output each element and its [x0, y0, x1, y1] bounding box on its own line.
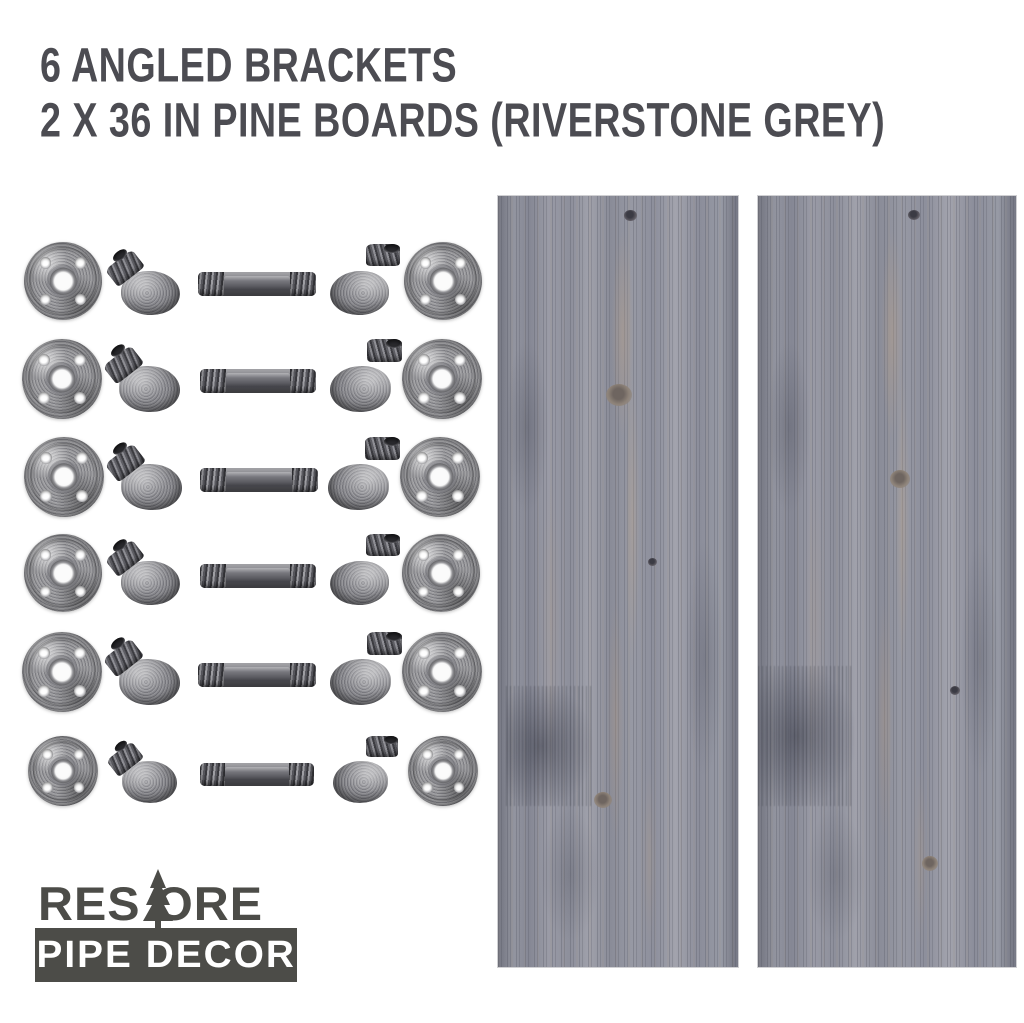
logo-wordmark-restore: RES ORE [35, 878, 297, 934]
flange-bolt-hole [40, 490, 52, 502]
flange-right [402, 534, 480, 612]
flange-bolt-hole [74, 749, 85, 760]
pipe-nipple [200, 468, 318, 492]
elbow-body [328, 464, 389, 510]
flange-bolt-hole [42, 782, 53, 793]
flange-hub-hole [50, 268, 77, 295]
nipple-highlight [226, 472, 292, 477]
nipple-thread-right [290, 564, 316, 588]
elbow-left [110, 437, 190, 513]
flange-right [402, 339, 482, 419]
flange-right [402, 632, 482, 712]
elbow-left [110, 534, 188, 608]
flange-bolt-hole [40, 257, 52, 269]
pipe-nipple [198, 663, 316, 687]
flange-left [22, 632, 102, 712]
elbow-left [108, 339, 188, 415]
wood-knot [908, 210, 920, 220]
title-line-2: 2 X 36 IN PINE BOARDS (RIVERSTONE GREY) [40, 88, 914, 153]
flange-left [22, 339, 102, 419]
flange-bolt-hole [454, 685, 466, 697]
elbow-right [322, 534, 400, 608]
nipple-thread-left [200, 564, 226, 588]
flange-bolt-hole [416, 490, 428, 502]
nipple-thread-right [290, 272, 316, 296]
flange-bolt-hole [454, 782, 465, 793]
wood-rough-patch [506, 686, 592, 806]
flange-bolt-hole [76, 490, 88, 502]
product-title: 6 ANGLED BRACKETS 2 X 36 IN PINE BOARDS … [40, 38, 990, 148]
logo-banner: PIPE DECOR [35, 928, 297, 982]
pipe-nipple [198, 272, 316, 296]
bracket-row [0, 325, 490, 425]
product-image-canvas: 6 ANGLED BRACKETS 2 X 36 IN PINE BOARDS … [0, 0, 1024, 1023]
pine-boards-group [498, 196, 1016, 967]
flange-bolt-hole [422, 782, 433, 793]
nipple-thread-left [200, 369, 226, 393]
elbow-body [330, 271, 389, 315]
flange-bolt-hole [74, 782, 85, 793]
elbow-body [330, 366, 391, 412]
flange-bolt-hole [75, 257, 87, 269]
flange-right [408, 736, 478, 806]
elbow-body [333, 761, 388, 803]
nipple-thread-left [198, 663, 224, 687]
nipple-thread-left [200, 763, 225, 786]
flange-bolt-hole [75, 549, 87, 561]
elbow-left [110, 244, 188, 318]
flange-bolt-hole [418, 685, 430, 697]
bracket-row [0, 520, 490, 620]
nipple-highlight [224, 667, 290, 672]
nipple-highlight [225, 767, 289, 772]
flange-bolt-hole [422, 749, 433, 760]
pine-board-right [758, 196, 1016, 967]
nipple-thread-right [289, 763, 314, 786]
flange-bolt-hole [74, 392, 86, 404]
flange-bolt-hole [454, 749, 465, 760]
elbow-opening [384, 534, 400, 543]
flange-bolt-hole [454, 392, 466, 404]
flange-bolt-hole [452, 490, 464, 502]
flange-left [28, 736, 98, 806]
wood-grain-warm [758, 196, 1016, 967]
elbow-left [112, 736, 184, 806]
flange-hub-hole [50, 560, 77, 587]
brand-logo: RES ORE PIPE DECOR [35, 878, 297, 982]
wood-grain-dark [498, 196, 738, 967]
pine-board-left [498, 196, 738, 967]
flange-left [24, 437, 104, 517]
pipe-nipple [200, 564, 316, 588]
flange-right [400, 437, 480, 517]
flange-bolt-hole [42, 749, 53, 760]
bracket-row [0, 618, 490, 718]
nipple-highlight [226, 373, 291, 378]
bracket-row [0, 423, 490, 523]
flange-left [24, 534, 102, 612]
wood-rough-patch [758, 666, 854, 806]
wood-grain-dark [758, 196, 1016, 967]
nipple-thread-right [290, 663, 316, 687]
logo-pipe-decor-text: PIPE DECOR [36, 935, 295, 975]
elbow-right [326, 736, 398, 806]
flange-bolt-hole [453, 549, 465, 561]
elbow-opening [384, 244, 400, 253]
pipe-nipple [200, 369, 316, 393]
wood-knot [594, 792, 612, 808]
flange-bolt-hole [38, 392, 50, 404]
flange-bolt-hole [420, 257, 432, 269]
bracket-hardware-group [0, 228, 490, 818]
nipple-highlight [226, 568, 291, 573]
pipe-nipple [200, 763, 314, 786]
bracket-row [0, 718, 490, 818]
nipple-thread-right [292, 468, 318, 492]
elbow-right [320, 437, 400, 513]
elbow-right [322, 632, 402, 708]
flange-hub-hole [428, 560, 455, 587]
wood-knot [922, 856, 938, 871]
nipple-thread-left [200, 468, 226, 492]
elbow-body [330, 561, 389, 605]
wood-knot [950, 686, 960, 695]
elbow-body [330, 659, 391, 705]
flange-hub-hole [51, 759, 75, 783]
nipple-thread-right [290, 369, 316, 393]
elbow-right [322, 339, 402, 415]
wood-knot [890, 470, 910, 488]
flange-hub-hole [431, 759, 455, 783]
flange-bolt-hole [38, 685, 50, 697]
flange-right [404, 242, 482, 320]
nipple-thread-left [198, 272, 224, 296]
elbow-left [108, 632, 188, 708]
flange-bolt-hole [455, 257, 467, 269]
flange-bolt-hole [418, 392, 430, 404]
elbow-right [322, 244, 400, 318]
wood-knot [648, 558, 657, 566]
flange-bolt-hole [40, 549, 52, 561]
wood-grain-warm [498, 196, 738, 967]
nipple-highlight [224, 276, 290, 281]
flange-hub-hole [430, 268, 457, 295]
flange-bolt-hole [418, 549, 430, 561]
bracket-row [0, 228, 490, 328]
pine-tree-icon [136, 869, 180, 929]
wood-knot [606, 384, 632, 406]
flange-bolt-hole [74, 685, 86, 697]
flange-left [24, 242, 102, 320]
wood-knot [624, 210, 637, 221]
